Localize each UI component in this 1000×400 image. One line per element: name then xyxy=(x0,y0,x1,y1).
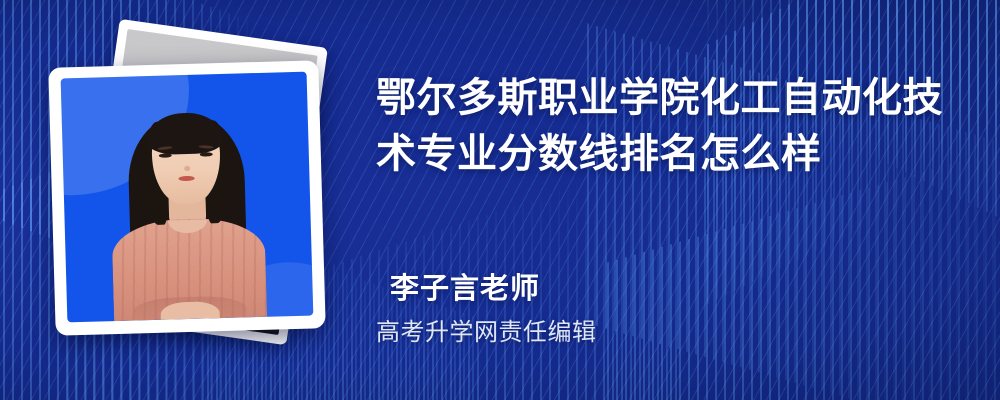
banner-title: 鄂尔多斯职业学院化工自动化技术专业分数线排名怎么样 xyxy=(376,70,968,182)
photo-card-stack xyxy=(52,28,342,358)
author-byline: 李子言老师 高考升学网责任编辑 xyxy=(390,272,950,348)
photo-card-front xyxy=(48,60,325,335)
banner-text-block: 鄂尔多斯职业学院化工自动化技术专业分数线排名怎么样 李子言老师 高考升学网责任编… xyxy=(372,0,980,400)
portrait-figure xyxy=(61,72,314,323)
author-portrait-photo xyxy=(61,72,314,323)
author-name: 李子言老师 xyxy=(390,272,950,306)
author-role: 高考升学网责任编辑 xyxy=(376,318,950,348)
portrait-hands xyxy=(160,301,219,320)
article-cover-banner: 鄂尔多斯职业学院化工自动化技术专业分数线排名怎么样 李子言老师 高考升学网责任编… xyxy=(0,0,1000,400)
portrait-mouth xyxy=(179,176,195,181)
